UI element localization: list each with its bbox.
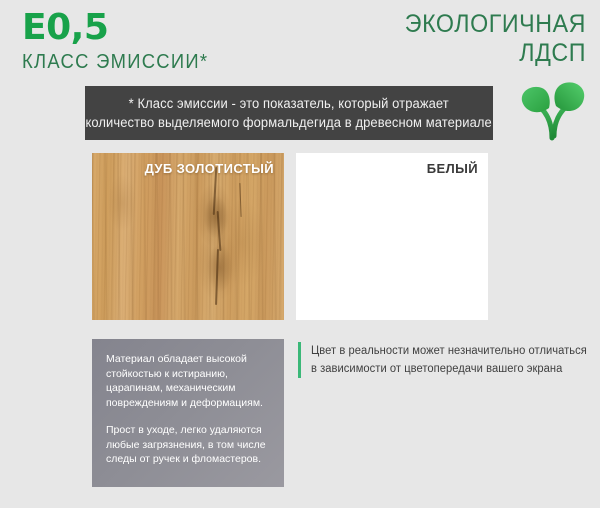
- emission-footnote-banner: * Класс эмиссии - это показатель, которы…: [85, 86, 493, 140]
- disclaimer-line-1: Цвет в реальности может незначительно от…: [311, 342, 580, 360]
- emission-class-block: E0,5 КЛАСС ЭМИССИИ*: [22, 8, 282, 74]
- footnote-line-1: * Класс эмиссии - это показатель, которы…: [129, 94, 449, 113]
- product-info-banner: E0,5 КЛАСС ЭМИССИИ* ЭКОЛОГИЧНАЯ ЛДСП: [0, 0, 600, 508]
- color-accuracy-disclaimer: Цвет в реальности может незначительно от…: [298, 342, 588, 378]
- color-swatch-oak[interactable]: ДУБ ЗОЛОТИСТЫЙ: [92, 153, 284, 320]
- sprout-leaf-icon: [518, 74, 588, 144]
- eco-title-line-2: ЛДСП: [363, 39, 586, 68]
- disclaimer-line-2: в зависимости от цветопередачи вашего эк…: [311, 360, 580, 378]
- material-properties-box: Материал обладает высокой стойкостью к и…: [92, 339, 284, 487]
- footnote-line-2: количество выделяемого формальдегида в д…: [86, 113, 492, 132]
- color-swatch-oak-caption: ДУБ ЗОЛОТИСТЫЙ: [145, 161, 274, 176]
- color-swatch-white-caption: БЕЛЫЙ: [427, 161, 478, 176]
- emission-class-code: E0,5: [22, 8, 282, 48]
- material-property-durability: Материал обладает высокой стойкостью к и…: [106, 352, 270, 410]
- oak-wood-texture: [92, 153, 284, 320]
- eco-title-block: ЭКОЛОГИЧНАЯ ЛДСП: [346, 10, 586, 68]
- eco-title-line-1: ЭКОЛОГИЧНАЯ: [363, 10, 586, 39]
- color-swatch-white[interactable]: БЕЛЫЙ: [296, 153, 488, 320]
- material-property-maintenance: Прост в уходе, легко удаляются любые заг…: [106, 423, 270, 467]
- emission-class-label: КЛАСС ЭМИССИИ*: [22, 50, 261, 74]
